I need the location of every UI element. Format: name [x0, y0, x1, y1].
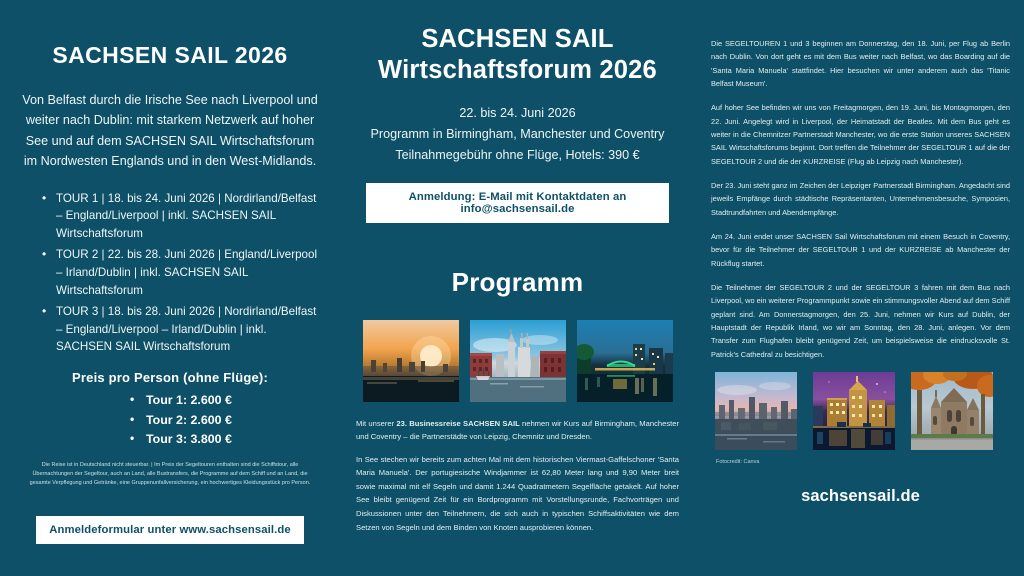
list-item: TOUR 1 | 18. bis 24. Juni 2026 | Nordirl… [44, 190, 322, 243]
itinerary-paragraph: Auf hoher See befinden wir uns von Freit… [711, 101, 1010, 168]
birmingham-canals-photo [813, 372, 895, 450]
paragraph-bold-segment: 23. Businessreise SACHSEN SAIL [396, 419, 519, 428]
forum-title: SACHSEN SAIL Wirtschaftsforum 2026 [352, 24, 683, 86]
itinerary-paragraph: Die SEGELTOUREN 1 und 3 beginnen am Donn… [711, 37, 1010, 90]
liverpool-albert-dock-photo [470, 320, 566, 402]
photo-credit: Fotocredit: Canva [711, 459, 1010, 465]
list-item: Tour 1: 2.600 € [130, 391, 322, 411]
email-address-link[interactable]: info@sachsensail.de [372, 203, 663, 215]
right-column: Die SEGELTOUREN 1 und 3 beginnen am Donn… [695, 0, 1024, 576]
tour-list: TOUR 1 | 18. bis 24. Juni 2026 | Nordirl… [18, 190, 322, 356]
list-item: TOUR 3 | 18. bis 28. Juni 2026 | Nordirl… [44, 303, 322, 356]
forum-title-line2: Wirtschaftsforum 2026 [352, 55, 683, 86]
poster-canvas: SACHSEN SAIL 2026 Von Belfast durch die … [0, 0, 1024, 576]
ship-description-paragraph: In See stechen wir bereits zum achten Ma… [356, 453, 679, 534]
middle-photo-row [352, 320, 683, 402]
right-photo-row [711, 372, 1010, 450]
middle-column: SACHSEN SAIL Wirtschaftsforum 2026 22. b… [340, 0, 695, 576]
forum-fee: Teilnahmegebühr ohne Flüge, Hotels: 390 … [352, 145, 683, 166]
manchester-skyline-photo [715, 372, 797, 450]
itinerary-text: Die SEGELTOUREN 1 und 3 beginnen am Donn… [711, 37, 1010, 361]
businessreise-paragraph: Mit unserer 23. Businessreise SACHSEN SA… [356, 417, 679, 444]
registration-form-link[interactable]: Anmeldeformular unter www.sachsensail.de [36, 516, 304, 544]
intro-paragraph: Von Belfast durch die Irische See nach L… [18, 90, 322, 172]
list-item: TOUR 2 | 22. bis 28. Juni 2026 | England… [44, 246, 322, 299]
price-heading: Preis pro Person (ohne Flüge): [18, 370, 322, 385]
coventry-cathedral-photo [911, 372, 993, 450]
itinerary-paragraph: Die Teilnehmer der SEGELTOUR 2 und der S… [711, 281, 1010, 361]
dublin-river-liffey-photo [577, 320, 673, 402]
itinerary-paragraph: Am 24. Juni endet unser SACHSEN Sail Wir… [711, 230, 1010, 270]
page-title: SACHSEN SAIL 2026 [18, 42, 322, 69]
forum-title-line1: SACHSEN SAIL [352, 24, 683, 55]
email-registration-box[interactable]: Anmeldung: E-Mail mit Kontaktdaten an in… [366, 183, 669, 223]
fineprint-disclaimer: Die Reise ist in Deutschland nicht steue… [18, 461, 322, 488]
forum-dates: 22. bis 24. Juni 2026 [352, 103, 683, 124]
brand-website[interactable]: sachsensail.de [711, 487, 1010, 506]
left-column: SACHSEN SAIL 2026 Von Belfast durch die … [0, 0, 340, 576]
belfast-sunset-photo [363, 320, 459, 402]
forum-program-cities: Programm in Birmingham, Manchester und C… [352, 124, 683, 145]
email-registration-label: Anmeldung: E-Mail mit Kontaktdaten an [409, 191, 627, 203]
forum-subheader: 22. bis 24. Juni 2026 Programm in Birmin… [352, 103, 683, 166]
list-item: Tour 2: 2.600 € [130, 411, 322, 431]
list-item: Tour 3: 3.800 € [130, 430, 322, 450]
price-list: Tour 1: 2.600 € Tour 2: 2.600 € Tour 3: … [18, 391, 322, 450]
programm-heading: Programm [352, 267, 683, 298]
middle-body-text: Mit unserer 23. Businessreise SACHSEN SA… [352, 417, 683, 534]
itinerary-paragraph: Der 23. Juni steht ganz im Zeichen der L… [711, 179, 1010, 219]
paragraph-prefix: Mit unserer [356, 419, 396, 428]
